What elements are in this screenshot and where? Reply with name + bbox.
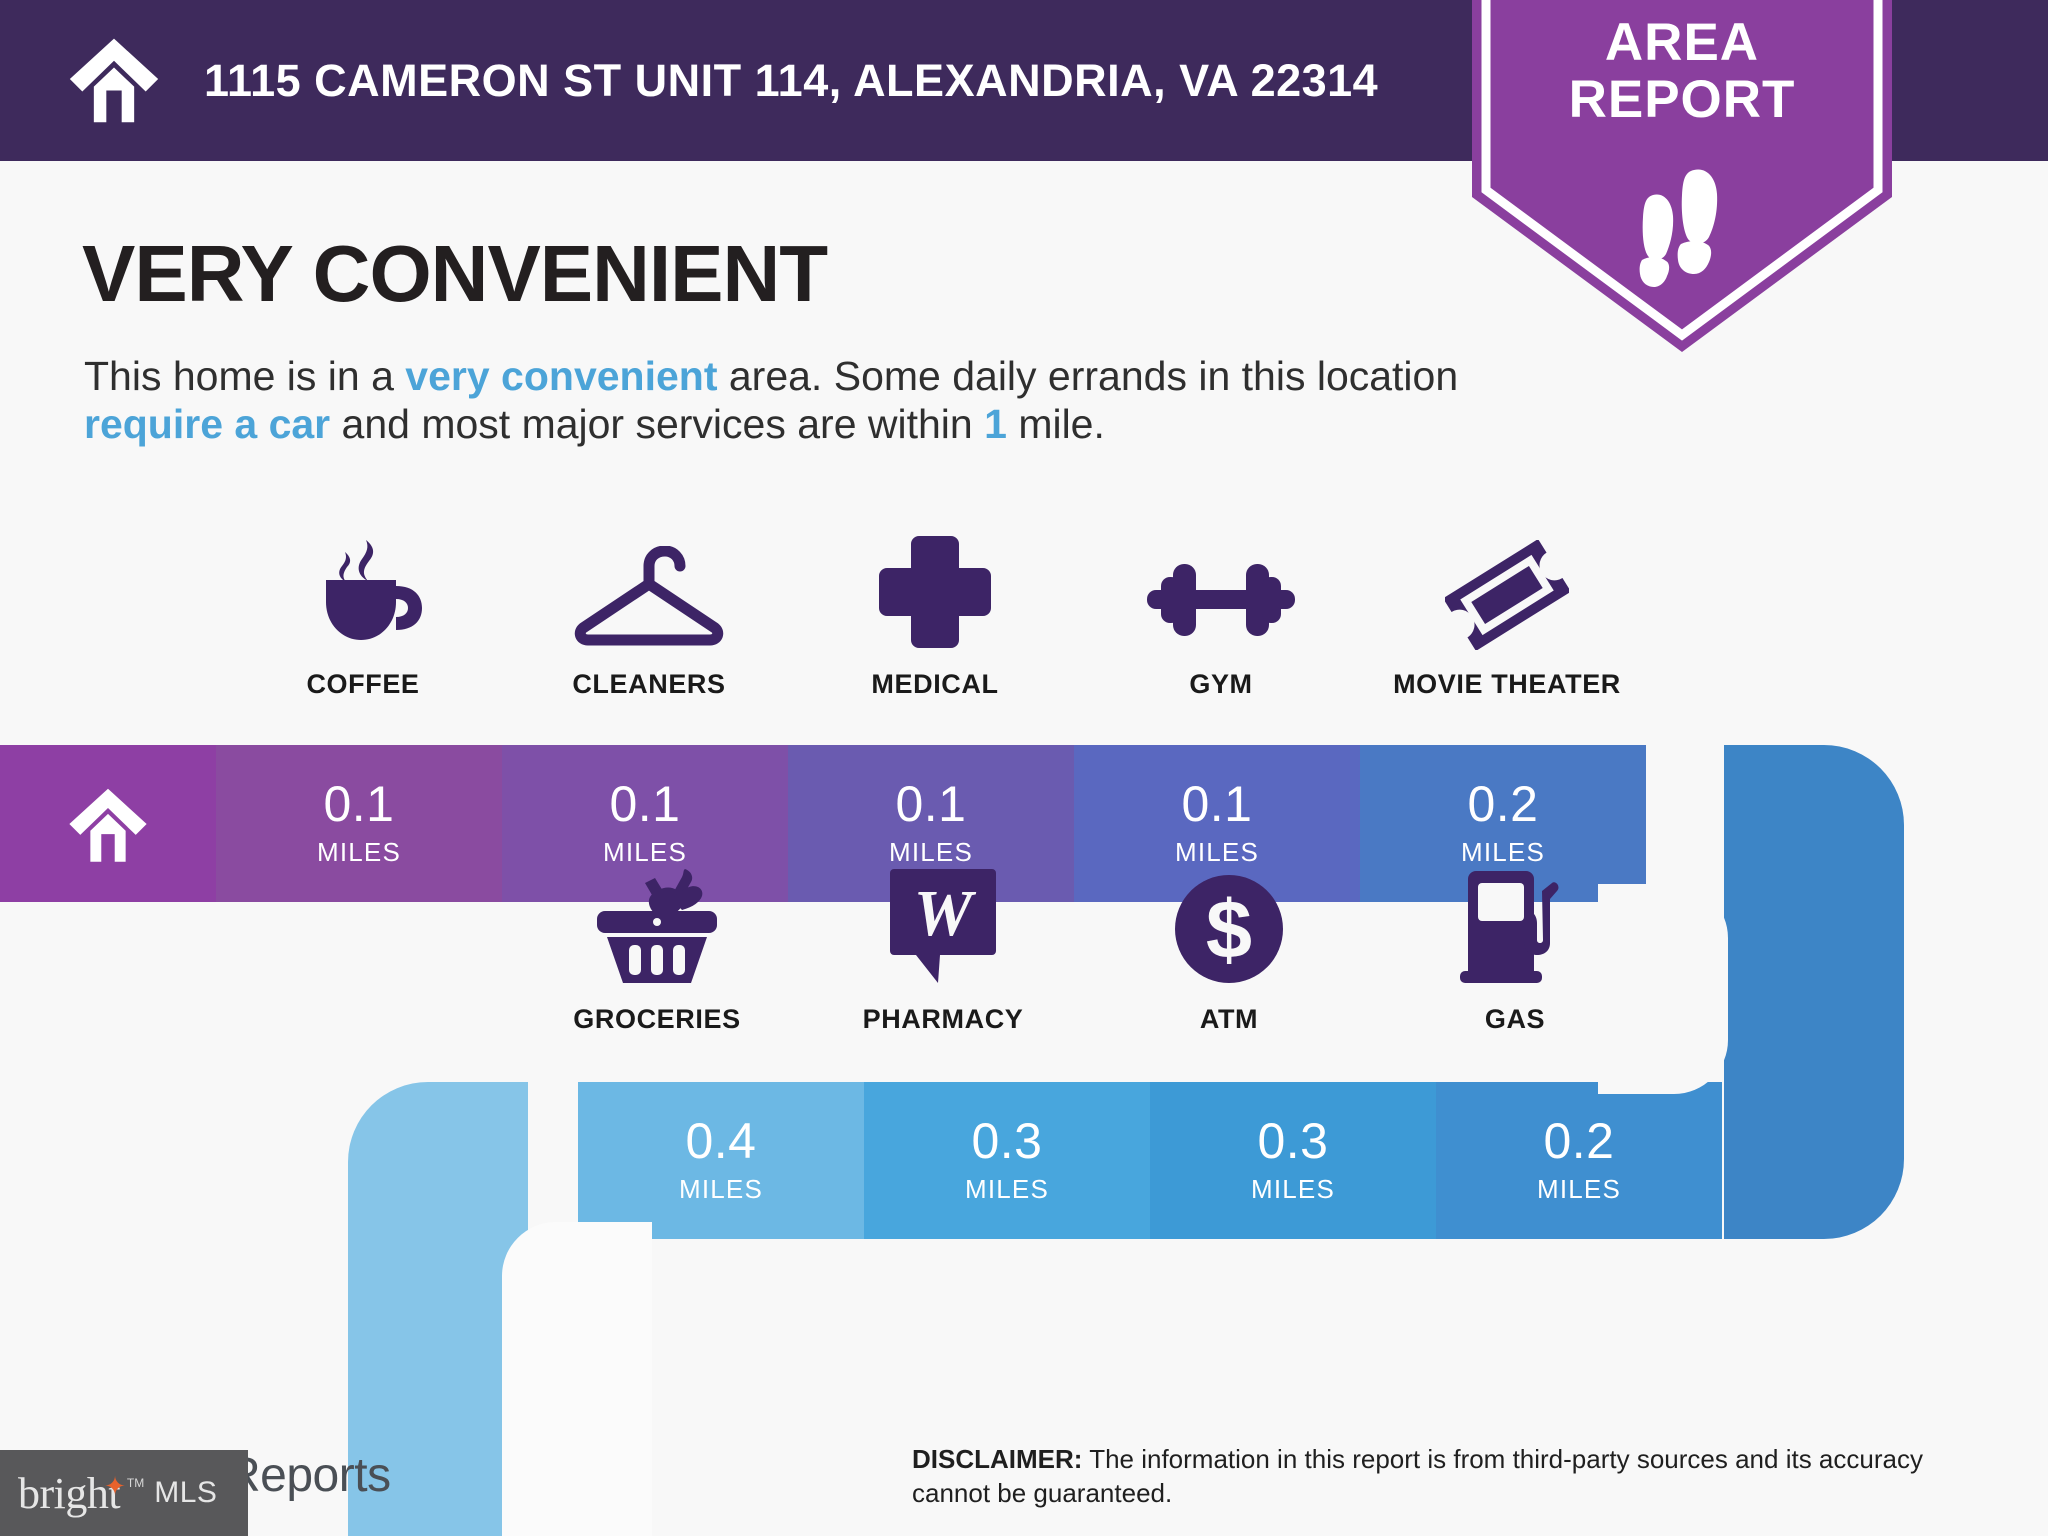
svg-text:$: $ [1206, 883, 1252, 976]
distance-value: 0.1 [609, 779, 680, 829]
distance-segment-atm: 0.3 MILES [1150, 1082, 1436, 1239]
gas-pump-icon [1452, 865, 1578, 985]
desc-part-1: This home is in a [84, 353, 405, 399]
distance-unit: MILES [1461, 837, 1545, 868]
desc-highlight-1: very convenient [405, 353, 717, 399]
svg-text:W: W [914, 877, 977, 950]
coffee-cup-icon [304, 530, 422, 650]
bright-mls-watermark: bright ✦ TM MLS [0, 1450, 248, 1536]
distance-unit: MILES [1537, 1174, 1621, 1205]
distance-unit: MILES [679, 1174, 763, 1205]
area-report-page: 1115 CAMERON ST UNIT 114, ALEXANDRIA, VA… [0, 0, 2048, 1536]
amenity-label: PHARMACY [863, 1004, 1024, 1035]
amenity-groceries: GROCERIES [514, 865, 800, 1035]
page-title: VERY CONVENIENT [82, 228, 827, 320]
amenity-pharmacy: W PHARMACY [800, 865, 1086, 1035]
description-text: This home is in a very convenient area. … [84, 353, 1484, 449]
distance-unit: MILES [1251, 1174, 1335, 1205]
amenity-label: GAS [1485, 1004, 1545, 1035]
hanger-icon [573, 530, 725, 650]
distance-value: 0.3 [971, 1116, 1042, 1166]
distance-value: 0.1 [323, 779, 394, 829]
distance-bar-row-2: 0.4 MILES 0.3 MILES 0.3 MILES 0.2 MILES [578, 1082, 1722, 1239]
amenity-label: MEDICAL [871, 669, 998, 700]
brand-logo-partial: Reports [226, 1448, 391, 1503]
amenity-icon-row-1: COFFEE CLEANERS MEDICAL [220, 530, 1650, 700]
amenity-label: GROCERIES [573, 1004, 740, 1035]
amenity-label: GYM [1189, 669, 1252, 700]
distance-unit: MILES [1175, 837, 1259, 868]
dumbbell-icon [1147, 530, 1295, 650]
distance-value: 0.1 [895, 779, 966, 829]
desc-highlight-3: 1 [984, 401, 1007, 447]
property-address: 1115 CAMERON ST UNIT 114, ALEXANDRIA, VA… [204, 55, 1378, 107]
watermark-mls-text: MLS [154, 1476, 217, 1510]
walgreens-w-icon: W [888, 865, 998, 985]
amenity-medical: MEDICAL [792, 530, 1078, 700]
distance-value: 0.3 [1257, 1116, 1328, 1166]
snake-bar-right-inner-cut [1598, 884, 1728, 1094]
distance-value: 0.2 [1467, 779, 1538, 829]
amenity-label: CLEANERS [572, 669, 725, 700]
distance-value: 0.4 [685, 1116, 756, 1166]
distance-unit: MILES [317, 837, 401, 868]
amenity-coffee: COFFEE [220, 530, 506, 700]
amenity-gym: GYM [1078, 530, 1364, 700]
amenity-movie-theater: MOVIE THEATER [1364, 530, 1650, 700]
disclaimer: DISCLAIMER: The information in this repo… [912, 1442, 1982, 1511]
watermark-tm: TM [127, 1476, 144, 1490]
distance-segment-pharmacy: 0.3 MILES [864, 1082, 1150, 1239]
snake-bar-left-inner-cut [502, 1222, 652, 1536]
amenity-label: COFFEE [306, 669, 419, 700]
amenity-label: MOVIE THEATER [1393, 669, 1621, 700]
amenity-label: ATM [1200, 1004, 1258, 1035]
desc-part-3: and most major services are within [330, 401, 984, 447]
snake-bar-right-stem [1724, 880, 1904, 1102]
distance-segment-gas: 0.2 MILES [1436, 1082, 1722, 1239]
dollar-circle-icon: $ [1173, 865, 1285, 985]
home-icon [66, 782, 150, 866]
amenity-icon-row-2: GROCERIES W PHARMACY $ ATM [514, 865, 1658, 1035]
distance-value: 0.1 [1181, 779, 1252, 829]
snake-bar-right-elbow-bottom [1724, 1082, 1904, 1239]
snake-bar-right-elbow-top [1724, 745, 1904, 902]
distance-segment-coffee: 0.1 MILES [216, 745, 502, 902]
desc-part-2: area. Some daily errands in this locatio… [717, 353, 1458, 399]
distance-value: 0.2 [1543, 1116, 1614, 1166]
home-icon [66, 31, 162, 127]
distance-segment-groceries: 0.4 MILES [578, 1082, 864, 1239]
distance-unit: MILES [965, 1174, 1049, 1205]
area-report-badge: AREA REPORT [1472, 0, 1892, 362]
star-icon: ✦ [104, 1471, 126, 1502]
desc-highlight-2: require a car [84, 401, 330, 447]
amenity-atm: $ ATM [1086, 865, 1372, 1035]
medical-cross-icon [877, 530, 993, 650]
grocery-basket-icon [593, 865, 721, 985]
disclaimer-label: DISCLAIMER: [912, 1444, 1082, 1474]
amenity-cleaners: CLEANERS [506, 530, 792, 700]
home-marker-segment [0, 745, 216, 902]
ticket-icon [1445, 530, 1569, 650]
desc-part-4: mile. [1007, 401, 1105, 447]
